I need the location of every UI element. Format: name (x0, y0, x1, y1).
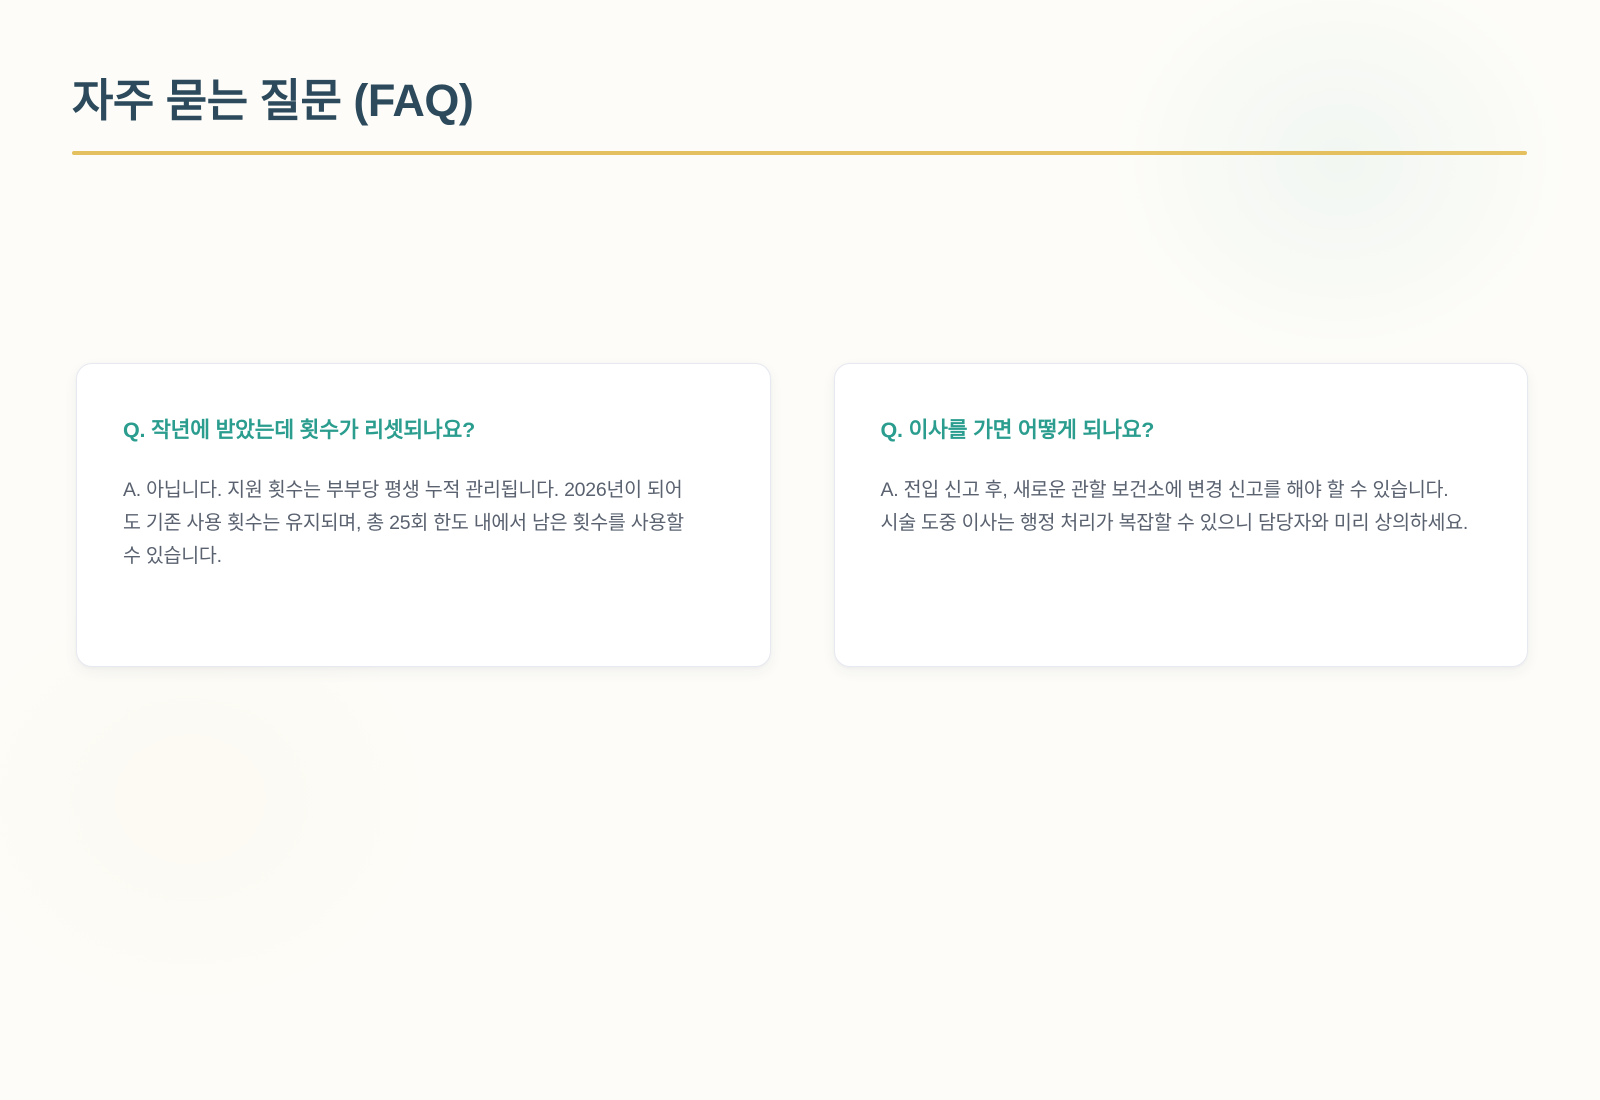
faq-question: Q. 작년에 받았는데 횟수가 리셋되나요? (123, 416, 724, 445)
page-header: 자주 묻는 질문 (FAQ) (72, 74, 1528, 155)
faq-answer: A. 아닙니다. 지원 횟수는 부부당 평생 누적 관리됩니다. 2026년이 … (123, 474, 698, 572)
faq-question: Q. 이사를 가면 어떻게 되나요? (881, 416, 1482, 445)
title-underline-accent (72, 151, 1527, 155)
faq-card[interactable]: Q. 작년에 받았는데 횟수가 리셋되나요? A. 아닙니다. 지원 횟수는 부… (76, 363, 771, 667)
faq-card[interactable]: Q. 이사를 가면 어떻게 되나요? A. 전입 신고 후, 새로운 관할 보건… (834, 363, 1529, 667)
faq-card-grid: Q. 작년에 받았는데 횟수가 리셋되나요? A. 아닙니다. 지원 횟수는 부… (76, 363, 1528, 667)
faq-answer: A. 전입 신고 후, 새로운 관할 보건소에 변경 신고를 해야 할 수 있습… (881, 474, 1471, 540)
faq-page: 자주 묻는 질문 (FAQ) Q. 작년에 받았는데 횟수가 리셋되나요? A.… (0, 0, 1600, 900)
page-title: 자주 묻는 질문 (FAQ) (72, 74, 1528, 127)
